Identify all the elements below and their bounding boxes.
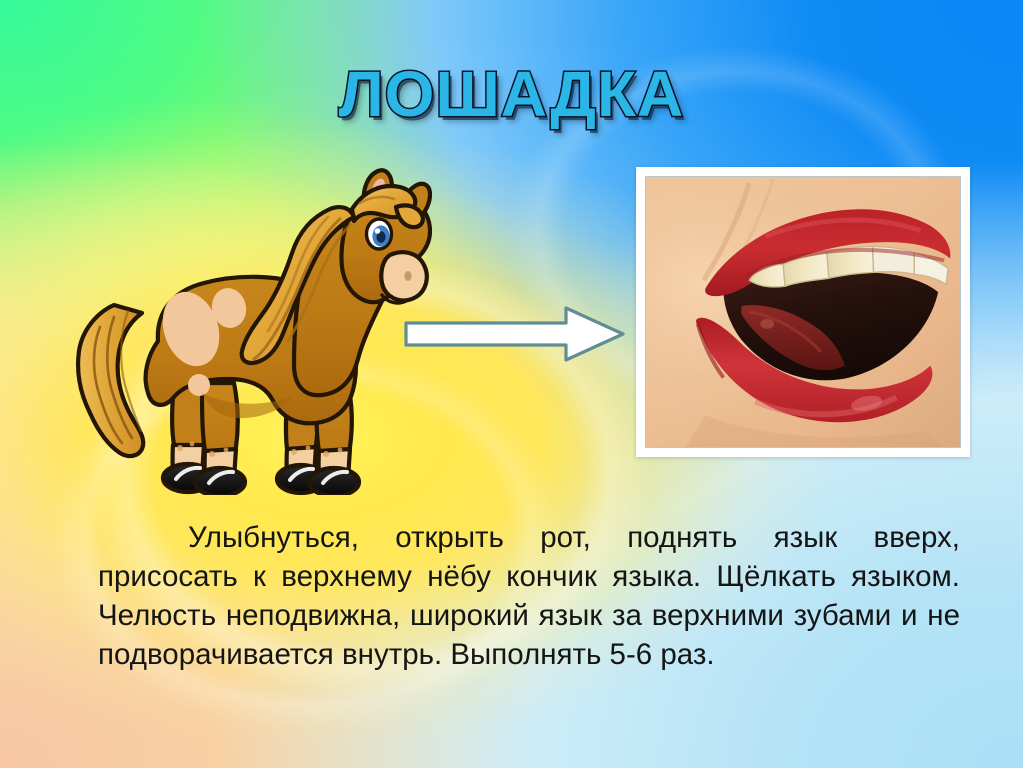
open-mouth-photo-frame bbox=[636, 167, 970, 457]
open-mouth-photo bbox=[645, 176, 961, 448]
horse-illustration bbox=[52, 145, 432, 495]
slide-title: ЛОШАДКА bbox=[0, 62, 1023, 126]
slide-canvas: ЛОШАДКА bbox=[0, 0, 1023, 768]
right-arrow-icon bbox=[404, 305, 626, 363]
exercise-description: Улыбнуться, открыть рот, поднять язык вв… bbox=[98, 518, 960, 674]
